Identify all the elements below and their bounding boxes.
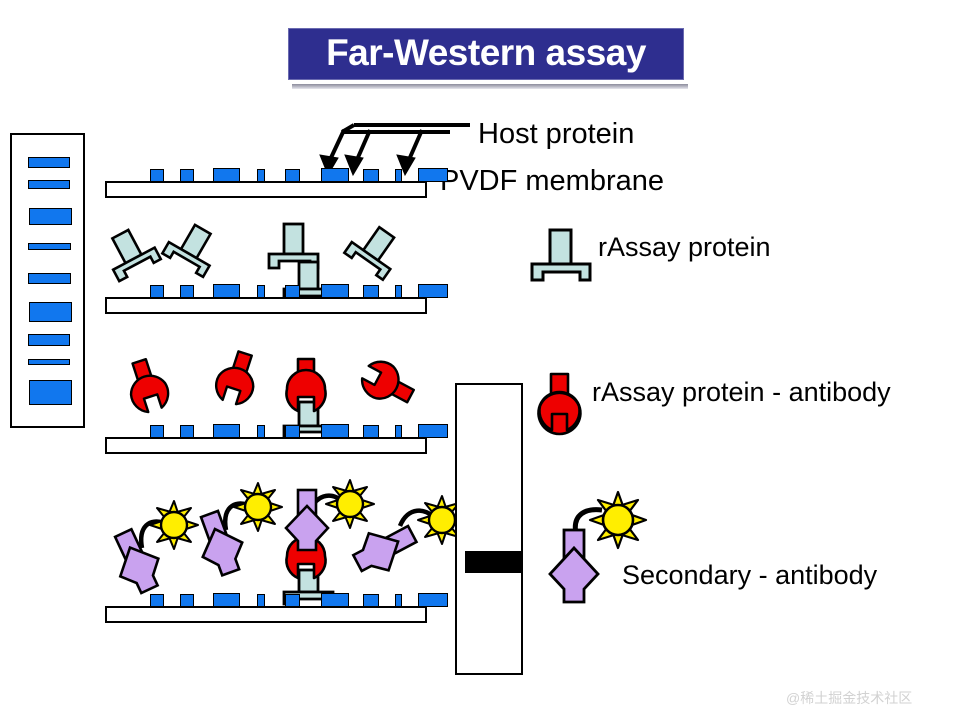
- membrane-protein-band: [321, 168, 349, 182]
- membrane-protein-band: [395, 285, 402, 298]
- membrane-protein-band: [150, 425, 164, 438]
- membrane-protein-band: [180, 285, 194, 298]
- gel-band: [29, 380, 72, 405]
- gel-band: [29, 208, 72, 225]
- diagram-canvas: Far-Western assay Host protein PVDF memb…: [0, 0, 960, 720]
- sds-page-gel-lane: [10, 133, 85, 428]
- membrane-protein-band: [213, 593, 240, 607]
- membrane-protein-band: [395, 425, 402, 438]
- membrane-step-4: [105, 606, 427, 623]
- antibody-icon: [214, 352, 264, 412]
- membrane-step-1: [105, 181, 427, 198]
- starburst-icon: [150, 501, 198, 549]
- gel-band: [28, 157, 70, 168]
- protein-table-icon: [528, 228, 598, 290]
- secondary-antibody-icon-bound: [274, 486, 404, 566]
- membrane-protein-band: [285, 425, 300, 438]
- protein-table-icon: [344, 226, 404, 282]
- gel-band: [28, 359, 70, 365]
- membrane-protein-band: [213, 168, 240, 182]
- antibody-icon-bound: [283, 358, 335, 420]
- gel-band: [28, 180, 70, 189]
- membrane-protein-band: [395, 594, 402, 607]
- protein-table-icon: [162, 224, 222, 280]
- membrane-protein-band: [418, 424, 448, 438]
- gel-band: [28, 243, 71, 250]
- autoradiograph-film: [455, 383, 523, 675]
- film-signal-band: [465, 551, 521, 573]
- membrane-protein-band: [418, 593, 448, 607]
- membrane-step-2: [105, 297, 427, 314]
- membrane-protein-band: [213, 284, 240, 298]
- membrane-protein-band: [363, 425, 379, 438]
- label-secondary-antibody: Secondary - antibody: [622, 560, 877, 591]
- membrane-protein-band: [150, 285, 164, 298]
- membrane-protein-band: [213, 424, 240, 438]
- membrane-protein-band: [321, 593, 349, 607]
- membrane-protein-band: [285, 594, 300, 607]
- membrane-protein-band: [418, 284, 448, 298]
- membrane-protein-band: [363, 594, 379, 607]
- membrane-protein-band: [363, 285, 379, 298]
- membrane-protein-band: [257, 425, 265, 438]
- watermark: @稀土掘金技术社区: [786, 688, 912, 708]
- antibody-icon: [356, 356, 410, 416]
- label-rassay-protein-antibody: rAssay protein - antibody: [592, 377, 891, 408]
- membrane-protein-band: [180, 425, 194, 438]
- title-underline-divider: [292, 84, 688, 89]
- membrane-protein-band: [395, 169, 402, 182]
- gel-band: [28, 273, 71, 284]
- gel-band: [28, 334, 70, 346]
- membrane-protein-band: [285, 285, 300, 298]
- page-title: Far-Western assay: [288, 28, 684, 80]
- membrane-protein-band: [321, 284, 349, 298]
- starburst-icon: [590, 492, 646, 548]
- antibody-icon: [126, 358, 176, 418]
- membrane-protein-band: [180, 169, 194, 182]
- membrane-protein-band: [257, 594, 265, 607]
- membrane-protein-band: [180, 594, 194, 607]
- label-rassay-protein: rAssay protein: [598, 232, 771, 263]
- gel-band: [29, 302, 72, 322]
- membrane-step-3: [105, 437, 427, 454]
- membrane-protein-band: [285, 169, 300, 182]
- membrane-protein-band: [418, 168, 448, 182]
- secondary-antibody-icon: [546, 490, 656, 610]
- membrane-protein-band: [257, 285, 265, 298]
- antibody-icon: [534, 372, 590, 438]
- membrane-protein-band: [150, 169, 164, 182]
- starburst-icon: [326, 480, 374, 528]
- host-protein-arrows: [330, 118, 490, 188]
- title-banner: Far-Western assay: [288, 28, 684, 80]
- membrane-protein-band: [257, 169, 265, 182]
- membrane-protein-band: [321, 424, 349, 438]
- label-host-protein: Host protein: [478, 118, 634, 151]
- membrane-protein-band: [150, 594, 164, 607]
- protein-table-icon: [104, 228, 160, 280]
- membrane-protein-band: [363, 169, 379, 182]
